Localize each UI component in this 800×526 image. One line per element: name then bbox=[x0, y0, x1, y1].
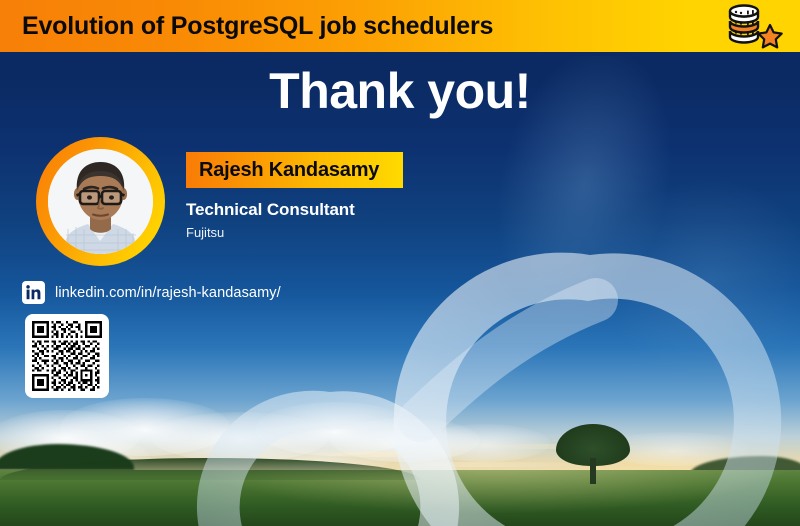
speaker-name-badge: Rajesh Kandasamy bbox=[186, 152, 403, 188]
avatar bbox=[36, 137, 165, 266]
avatar-photo bbox=[48, 149, 153, 254]
linkedin-icon[interactable] bbox=[22, 281, 45, 304]
slide-header: Evolution of PostgreSQL job schedulers bbox=[0, 0, 800, 52]
lone-tree bbox=[556, 424, 630, 484]
sky-wisp-right bbox=[560, 150, 800, 410]
database-star-icon bbox=[718, 1, 792, 51]
speaker-portrait-icon bbox=[48, 149, 153, 254]
speaker-company: Fujitsu bbox=[186, 225, 224, 240]
speaker-name: Rajesh Kandasamy bbox=[199, 159, 379, 182]
qr-code-icon[interactable] bbox=[32, 321, 102, 391]
tree-trunk bbox=[590, 458, 596, 484]
presentation-slide: Evolution of PostgreSQL job schedulers bbox=[0, 0, 800, 526]
slide-title: Evolution of PostgreSQL job schedulers bbox=[22, 12, 493, 41]
linkedin-url[interactable]: linkedin.com/in/rajesh-kandasamy/ bbox=[55, 285, 281, 301]
thank-you-heading: Thank you! bbox=[0, 62, 800, 120]
linkedin-row[interactable]: linkedin.com/in/rajesh-kandasamy/ bbox=[22, 281, 281, 304]
cirrus-streak bbox=[300, 452, 470, 457]
speaker-role: Technical Consultant bbox=[186, 200, 355, 220]
qr-code[interactable] bbox=[25, 314, 109, 398]
header-divider bbox=[0, 52, 800, 56]
